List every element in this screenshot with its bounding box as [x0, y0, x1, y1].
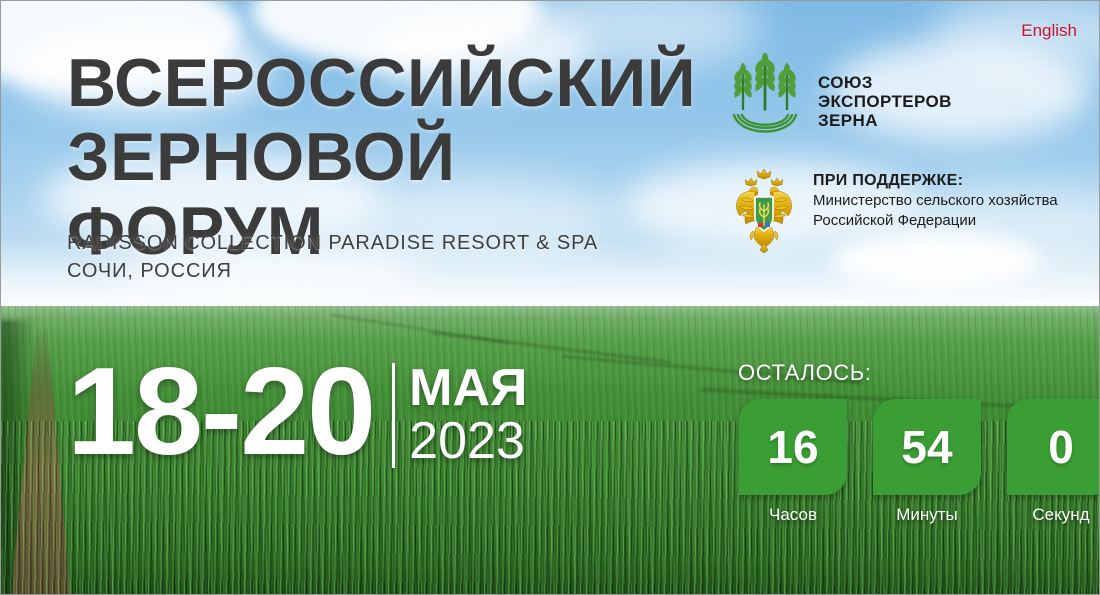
venue-info: RADISSON COLLECTION PARADISE RESORT & SP… — [67, 229, 687, 285]
countdown-value-seconds: 0 — [1048, 424, 1074, 470]
event-hero-banner: English ВСЕРОССИЙСКИЙ ЗЕРНОВОЙ ФОРУМ RAD… — [0, 0, 1100, 595]
venue-line2: СОЧИ, РОССИЯ — [67, 257, 687, 285]
date-divider — [392, 363, 395, 468]
countdown-cell-minutes: 54 Минуты — [873, 399, 981, 525]
union-logo-line3: ЗЕРНА — [818, 111, 952, 130]
venue-line1: RADISSON COLLECTION PARADISE RESORT & SP… — [67, 229, 687, 257]
countdown-caption-hours: Часов — [739, 505, 847, 525]
union-logo[interactable]: СОЮЗ ЭКСПОРТЕРОВ ЗЕРНА — [725, 53, 952, 149]
countdown-cell-seconds: 0 Секунд — [1007, 399, 1100, 525]
union-logo-line2: ЭКСПОРТЕРОВ — [818, 92, 952, 111]
countdown-label: ОСТАЛОСЬ: — [738, 360, 872, 386]
language-switch-link[interactable]: English — [1021, 21, 1077, 41]
countdown-caption-minutes: Минуты — [873, 505, 981, 525]
russian-double-headed-eagle-emblem-icon — [727, 165, 801, 255]
event-date-month: МАЯ — [409, 363, 527, 413]
event-date-month-year: МАЯ 2023 — [409, 353, 527, 469]
countdown-value-minutes: 54 — [901, 424, 952, 470]
page-title-line1: ВСЕРОССИЙСКИЙ — [67, 45, 696, 121]
support-title: ПРИ ПОДДЕРЖКЕ: — [813, 171, 1058, 191]
event-date-days: 18-20 — [67, 353, 374, 471]
countdown-value-hours: 16 — [767, 424, 818, 470]
support-block: ПРИ ПОДДЕРЖКЕ: Министерство сельского хо… — [727, 165, 1058, 255]
countdown-cell-hours: 16 Часов — [739, 399, 847, 525]
union-logo-text: СОЮЗ ЭКСПОРТЕРОВ ЗЕРНА — [818, 73, 952, 130]
union-logo-line1: СОЮЗ — [818, 73, 952, 92]
countdown-box-minutes: 54 — [873, 399, 981, 495]
countdown-timer: 16 Часов 54 Минуты 0 Секунд — [739, 399, 1100, 525]
countdown-box-hours: 16 — [739, 399, 847, 495]
support-line1: Министерство сельского хозяйства — [813, 191, 1058, 211]
countdown-caption-seconds: Секунд — [1007, 505, 1100, 525]
event-date-year: 2023 — [409, 413, 527, 469]
support-text: ПРИ ПОДДЕРЖКЕ: Министерство сельского хо… — [813, 165, 1058, 231]
wheat-ears-icon — [725, 53, 805, 149]
support-line2: Российской Федерации — [813, 211, 1058, 231]
countdown-box-seconds: 0 — [1007, 399, 1100, 495]
event-date: 18-20 МАЯ 2023 — [67, 353, 527, 471]
